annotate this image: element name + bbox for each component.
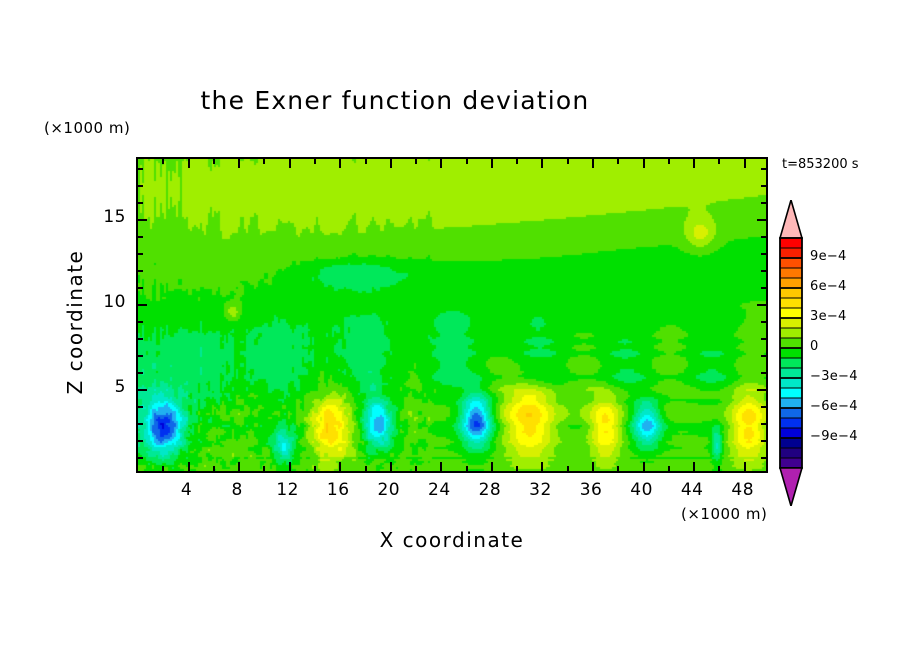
x-tick-bottom [693, 462, 695, 471]
x-tick-top [541, 159, 543, 168]
colorbar-tick-label: 6e−4 [810, 279, 847, 294]
colorbar-band [780, 348, 802, 358]
y-axis-unit-label: (×1000 m) [44, 119, 130, 137]
z-tick-right [757, 304, 766, 306]
x-tick-label: 32 [515, 480, 565, 500]
x-tick-top [567, 159, 569, 164]
colorbar-band [780, 398, 802, 408]
x-tick-bottom [668, 466, 670, 471]
colorbar-band [780, 438, 802, 448]
colorbar[interactable] [779, 200, 803, 506]
x-tick-bottom [415, 466, 417, 471]
x-tick-top [238, 159, 240, 168]
x-tick-top [263, 159, 265, 164]
colorbar-band [780, 458, 802, 468]
x-tick-top [314, 159, 316, 164]
z-tick-right [761, 338, 766, 340]
x-tick-bottom [567, 466, 569, 471]
colorbar-band [780, 338, 802, 348]
z-tick-right [761, 287, 766, 289]
x-tick-bottom [238, 462, 240, 471]
z-tick-label: 10 [86, 292, 126, 312]
z-tick-right [761, 440, 766, 442]
x-tick-label: 48 [718, 480, 768, 500]
x-tick-top [466, 159, 468, 164]
z-tick-left [138, 406, 143, 408]
z-tick-left [138, 168, 143, 170]
colorbar-band [780, 378, 802, 388]
z-tick-left [138, 423, 143, 425]
z-tick-right [761, 270, 766, 272]
colorbar-band [780, 368, 802, 378]
z-tick-left [138, 457, 143, 459]
colorbar-tick-label: 0 [810, 339, 819, 354]
z-tick-left [138, 355, 143, 357]
x-axis-unit-label: (×1000 m) [681, 505, 767, 523]
colorbar-band [780, 238, 802, 248]
x-tick-bottom [440, 462, 442, 471]
colorbar-band [780, 328, 802, 338]
x-tick-bottom [213, 466, 215, 471]
colorbar-band [780, 408, 802, 418]
z-tick-left [138, 372, 143, 374]
z-tick-label: 5 [86, 377, 126, 397]
x-tick-top [592, 159, 594, 168]
colorbar-under-cap [780, 468, 802, 506]
z-tick-right [761, 372, 766, 374]
x-tick-label: 20 [364, 480, 414, 500]
z-tick-right [757, 389, 766, 391]
z-tick-right [761, 423, 766, 425]
x-tick-bottom [162, 466, 164, 471]
z-tick-label: 15 [86, 207, 126, 227]
z-tick-right [761, 406, 766, 408]
colorbar-tick-label: −6e−4 [810, 399, 858, 414]
colorbar-band [780, 318, 802, 328]
x-tick-bottom [617, 466, 619, 471]
colorbar-tick-label: −3e−4 [810, 369, 858, 384]
x-tick-top [213, 159, 215, 164]
colorbar-band [780, 268, 802, 278]
z-tick-left [138, 219, 147, 221]
x-tick-bottom [188, 462, 190, 471]
x-tick-label: 36 [566, 480, 616, 500]
z-tick-right [761, 253, 766, 255]
x-tick-top [365, 159, 367, 164]
x-tick-bottom [365, 466, 367, 471]
x-tick-top [390, 159, 392, 168]
x-tick-top [415, 159, 417, 164]
x-tick-bottom [744, 462, 746, 471]
colorbar-tick-label: 3e−4 [810, 309, 847, 324]
z-tick-left [138, 287, 143, 289]
x-tick-top [440, 159, 442, 168]
z-tick-right [761, 321, 766, 323]
z-tick-left [138, 185, 143, 187]
x-tick-top [339, 159, 341, 168]
x-tick-bottom [541, 462, 543, 471]
colorbar-band [780, 298, 802, 308]
x-tick-label: 12 [263, 480, 313, 500]
z-tick-left [138, 304, 147, 306]
timestamp-annotation: t=853200 s [782, 157, 859, 172]
z-tick-left [138, 253, 143, 255]
x-tick-top [516, 159, 518, 164]
x-tick-top [744, 159, 746, 168]
x-tick-top [162, 159, 164, 164]
x-tick-bottom [339, 462, 341, 471]
z-tick-left [138, 270, 143, 272]
x-tick-top [491, 159, 493, 168]
colorbar-tick-label: 9e−4 [810, 249, 847, 264]
z-tick-left [138, 236, 143, 238]
x-tick-bottom [314, 466, 316, 471]
colorbar-band [780, 448, 802, 458]
x-axis-title: X coordinate [136, 528, 768, 552]
x-tick-top [668, 159, 670, 164]
z-tick-left [138, 338, 143, 340]
y-axis-title: Z coordinate [63, 212, 87, 432]
x-tick-top [643, 159, 645, 168]
x-tick-bottom [718, 466, 720, 471]
x-tick-bottom [289, 462, 291, 471]
z-tick-right [761, 168, 766, 170]
x-tick-bottom [466, 466, 468, 471]
colorbar-tick-label: −9e−4 [810, 429, 858, 444]
x-tick-bottom [643, 462, 645, 471]
z-tick-left [138, 389, 147, 391]
colorbar-band [780, 428, 802, 438]
colorbar-band [780, 358, 802, 368]
z-tick-right [761, 202, 766, 204]
z-tick-left [138, 202, 143, 204]
colorbar-over-cap [780, 200, 802, 238]
z-tick-right [761, 185, 766, 187]
colorbar-band [780, 248, 802, 258]
x-tick-bottom [263, 466, 265, 471]
x-tick-label: 40 [617, 480, 667, 500]
page-title: the Exner function deviation [0, 86, 790, 115]
z-tick-right [761, 457, 766, 459]
x-tick-bottom [592, 462, 594, 471]
z-tick-right [757, 219, 766, 221]
x-tick-top [693, 159, 695, 168]
colorbar-band [780, 258, 802, 268]
colorbar-band [780, 418, 802, 428]
x-tick-top [188, 159, 190, 168]
x-tick-label: 28 [465, 480, 515, 500]
figure-root: the Exner function deviation (×1000 m) Z… [0, 0, 904, 654]
colorbar-band [780, 308, 802, 318]
plot-area[interactable] [136, 157, 768, 473]
x-tick-bottom [516, 466, 518, 471]
contour-field [138, 159, 768, 473]
x-tick-bottom [491, 462, 493, 471]
z-tick-right [761, 355, 766, 357]
x-tick-top [617, 159, 619, 164]
x-tick-label: 44 [667, 480, 717, 500]
z-tick-left [138, 321, 143, 323]
x-tick-label: 24 [414, 480, 464, 500]
x-tick-label: 4 [162, 480, 212, 500]
colorbar-band [780, 278, 802, 288]
colorbar-band [780, 288, 802, 298]
x-tick-label: 16 [313, 480, 363, 500]
x-tick-top [718, 159, 720, 164]
colorbar-band [780, 388, 802, 398]
z-tick-right [761, 236, 766, 238]
x-tick-bottom [390, 462, 392, 471]
z-tick-left [138, 440, 143, 442]
x-tick-top [289, 159, 291, 168]
x-tick-label: 8 [212, 480, 262, 500]
